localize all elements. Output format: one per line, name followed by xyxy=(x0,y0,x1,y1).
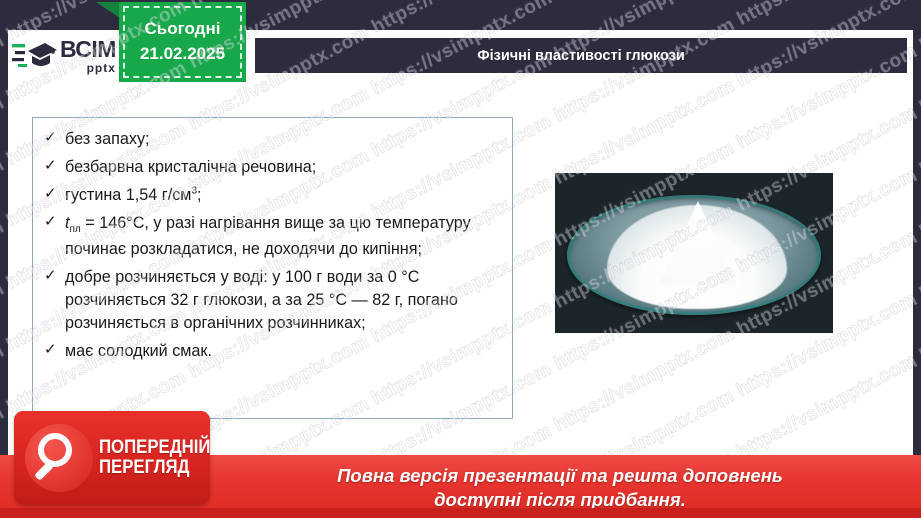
magnifier-icon xyxy=(22,421,96,495)
logo-suffix: pptx xyxy=(60,62,116,74)
list-item-label: без запаху; xyxy=(65,130,150,148)
check-icon: ✓ xyxy=(44,155,57,176)
check-icon: ✓ xyxy=(44,183,57,204)
date-badge: Сьогодні 21.02.2025 xyxy=(119,2,246,82)
list-item: ✓tпл = 146°C, у разі нагрівання вище за … xyxy=(43,212,500,261)
list-item: ✓безбарвна кристалічна речовина; xyxy=(43,156,500,179)
list-item-label: tпл = 146°C, у разі нагрівання вище за ц… xyxy=(65,214,471,258)
list-item-label: добре розчиняється у воді: у 100 г води … xyxy=(65,268,458,332)
page-title: Фізичні властивості глюкози xyxy=(477,48,685,64)
preview-badge: ПОПЕРЕДНІЙ ПЕРЕГЛЯД xyxy=(14,411,210,504)
check-icon: ✓ xyxy=(44,127,57,148)
date-badge-date: 21.02.2025 xyxy=(140,42,225,67)
list-item: ✓має солодкий смак. xyxy=(43,340,500,363)
purchase-banner-line1: Повна версія презентації та решта доповн… xyxy=(210,464,910,488)
banner-bottom-strip xyxy=(0,508,921,518)
vsimpptx-logo: ВСІМ pptx xyxy=(12,33,122,79)
logo-name: ВСІМ xyxy=(60,38,116,61)
preview-badge-text: ПОПЕРЕДНІЙ ПЕРЕГЛЯД xyxy=(99,438,229,478)
date-badge-label: Сьогодні xyxy=(145,17,221,42)
list-item: ✓без запаху; xyxy=(43,128,500,151)
check-icon: ✓ xyxy=(44,265,57,286)
date-badge-tail xyxy=(96,2,120,18)
slide-title-bar: Фізичні властивості глюкози xyxy=(255,38,907,73)
purchase-banner-text: Повна версія презентації та решта доповн… xyxy=(210,464,910,511)
check-icon: ✓ xyxy=(44,211,57,232)
preview-badge-line2: ПЕРЕГЛЯД xyxy=(99,458,210,478)
glucose-photo xyxy=(555,173,833,333)
check-icon: ✓ xyxy=(44,339,57,360)
magnifier-icon-wrap xyxy=(22,421,96,495)
list-item-label: має солодкий смак. xyxy=(65,342,212,360)
properties-content-box: ✓без запаху;✓безбарвна кристалічна речов… xyxy=(32,117,513,419)
presentation-slide: ВСІМ pptx Сьогодні 21.02.2025 Фізичні вл… xyxy=(0,0,921,518)
list-item-label: безбарвна кристалічна речовина; xyxy=(65,158,316,176)
list-item: ✓густина 1,54 г/см3; xyxy=(43,184,500,207)
list-item: ✓добре розчиняється у воді: у 100 г води… xyxy=(43,266,500,335)
properties-bullet-list: ✓без запаху;✓безбарвна кристалічна речов… xyxy=(43,128,500,363)
graduation-cap-icon xyxy=(12,39,58,73)
list-item-label: густина 1,54 г/см3; xyxy=(65,186,202,204)
